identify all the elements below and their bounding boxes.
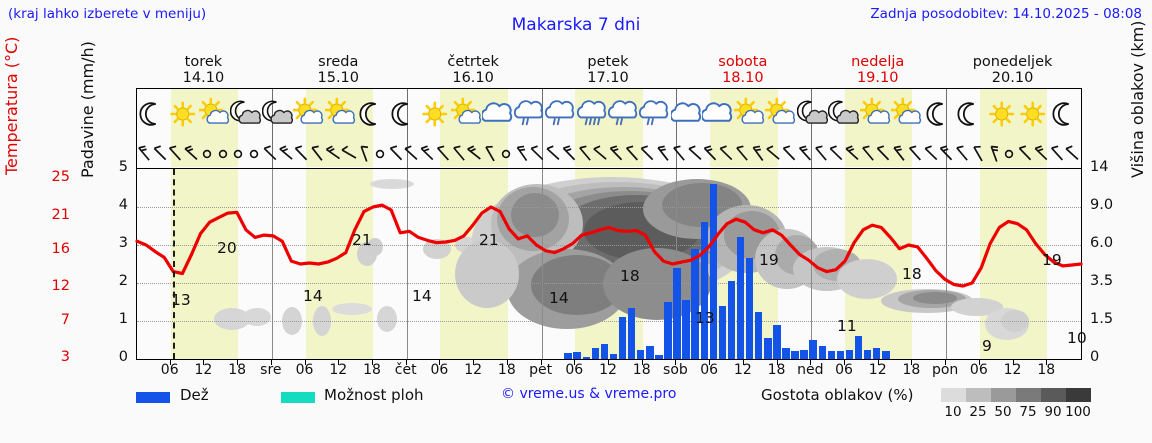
wind-barb-icon xyxy=(655,140,671,170)
x-tick-mark xyxy=(237,360,238,365)
sun-cloud-icon xyxy=(765,90,796,138)
precipitation-tick: 0 xyxy=(104,349,128,365)
precipitation-tick: 4 xyxy=(104,197,128,213)
wind-barb-icon xyxy=(388,140,404,170)
cloud-density-tick: 100 xyxy=(1065,404,1091,420)
sun-icon xyxy=(986,90,1017,138)
rain-legend-label: Dež xyxy=(180,386,209,404)
cloud-density-step xyxy=(1041,388,1066,402)
temperature-label: 19 xyxy=(1042,251,1062,269)
temperature-label: 21 xyxy=(479,231,499,249)
moon-icon xyxy=(356,90,387,138)
sun-cloud-icon xyxy=(451,90,482,138)
temperature-label: 14 xyxy=(412,287,432,305)
cloud-icon xyxy=(482,90,513,138)
wind-barb-icon xyxy=(671,140,687,170)
moon-icon xyxy=(136,90,167,138)
cloud-rain-icon xyxy=(545,90,576,138)
wind-barb-icon xyxy=(592,140,608,170)
cloud-height-tick: 14 xyxy=(1090,159,1124,175)
wind-barb-icon xyxy=(451,140,467,170)
wind-barb-icon xyxy=(341,140,357,170)
wind-barb-icon xyxy=(1017,140,1033,170)
x-tick-mark xyxy=(945,360,946,365)
rain-swatch xyxy=(136,392,170,403)
sun-icon xyxy=(419,90,450,138)
wind-barb-icon xyxy=(514,140,530,170)
x-tick-mark xyxy=(406,360,407,365)
cloud-height-tick: 9.0 xyxy=(1090,197,1124,213)
x-tick-mark xyxy=(743,360,744,365)
wind-barb-icon xyxy=(938,140,954,170)
wind-barb-icon xyxy=(891,140,907,170)
moon-cloud-icon xyxy=(828,90,859,138)
day-date: 19.10 xyxy=(857,70,899,86)
wind-barb-icon xyxy=(482,140,498,170)
wind-barb-icon xyxy=(624,140,640,170)
moon-cloud-icon xyxy=(797,90,828,138)
moon-cloud-icon xyxy=(262,90,293,138)
precipitation-tick: 2 xyxy=(104,273,128,289)
x-tick-mark xyxy=(810,360,811,365)
cloud-height-tick: 6.0 xyxy=(1090,235,1124,251)
showers-swatch xyxy=(281,392,315,403)
wind-barb-icon xyxy=(702,140,718,170)
sun-cloud-icon xyxy=(325,90,356,138)
wind-barb-icon xyxy=(466,140,482,170)
cloud-rain-icon xyxy=(608,90,639,138)
wind-barb-icon xyxy=(278,140,294,170)
wind-barb-icon xyxy=(403,140,419,170)
day-date: 15.10 xyxy=(318,70,360,86)
cloud-density-tick: 10 xyxy=(940,404,966,420)
wind-barb-icon xyxy=(765,140,781,170)
precipitation-tick: 1 xyxy=(104,311,128,327)
x-tick-mark xyxy=(541,360,542,365)
day-date: 20.10 xyxy=(992,70,1034,86)
wind-barb-icon xyxy=(639,140,655,170)
cloud-rain-icon xyxy=(639,90,670,138)
meteogram-plot: 13201421142114181319111891910 xyxy=(136,168,1082,360)
wind-barb-icon xyxy=(750,140,766,170)
day-header-5: nedelja19.10 xyxy=(810,54,945,86)
wind-barb-icon xyxy=(246,140,262,170)
moon-icon xyxy=(388,90,419,138)
temperature-label: 21 xyxy=(352,231,372,249)
wind-barb-icon xyxy=(435,140,451,170)
wind-barb-icon xyxy=(813,140,829,170)
wind-barb-icon xyxy=(734,140,750,170)
wind-barb-icon xyxy=(356,140,372,170)
temperature-line xyxy=(137,205,1081,286)
cloud-height-tick: 0 xyxy=(1090,349,1124,365)
current-time-marker xyxy=(173,169,175,359)
x-tick-mark xyxy=(642,360,643,365)
temperature-tick: 7 xyxy=(42,312,70,328)
day-name: ponedeljek xyxy=(973,54,1053,70)
x-tick-mark xyxy=(271,360,272,365)
sun-icon xyxy=(167,90,198,138)
wind-barb-icon xyxy=(183,140,199,170)
wind-barb-icon xyxy=(860,140,876,170)
wind-barb-icon xyxy=(293,140,309,170)
temperature-label: 18 xyxy=(620,267,640,285)
temperature-label: 9 xyxy=(982,337,992,355)
day-header-0: torek14.10 xyxy=(136,54,271,86)
wind-barb-icon xyxy=(1033,140,1049,170)
cloud-height-tick: 3.5 xyxy=(1090,273,1124,289)
cloud-icon xyxy=(671,90,702,138)
day-name: sreda xyxy=(318,54,358,70)
wind-barb-icon xyxy=(687,140,703,170)
legend: Dež Možnost ploh © vreme.us & vreme.pro … xyxy=(136,386,1152,426)
wind-barb-icon xyxy=(199,140,215,170)
cloud-density-tick: 75 xyxy=(1015,404,1041,420)
x-tick-mark xyxy=(979,360,980,365)
wind-barb-icon xyxy=(215,140,231,170)
wind-barb-icon xyxy=(561,140,577,170)
moon-cloud-icon xyxy=(230,90,261,138)
temperature-label: 18 xyxy=(902,265,922,283)
temperature-label: 11 xyxy=(837,317,857,335)
wind-barb-icon xyxy=(325,140,341,170)
day-name: nedelja xyxy=(851,54,904,70)
temperature-tick: 3 xyxy=(42,349,70,365)
wind-barb-icon xyxy=(262,140,278,170)
x-tick-mark xyxy=(844,360,845,365)
day-date: 17.10 xyxy=(587,70,629,86)
wind-barb-icon xyxy=(529,140,545,170)
day-header-4: sobota18.10 xyxy=(675,54,810,86)
temperature-tick: 25 xyxy=(42,169,70,185)
x-tick-mark xyxy=(507,360,508,365)
day-date: 14.10 xyxy=(183,70,225,86)
copyright-link[interactable]: © vreme.us & vreme.pro xyxy=(501,386,676,402)
temperature-label: 19 xyxy=(759,251,779,269)
wind-barb-icon xyxy=(970,140,986,170)
temperature-axis-title: Temperatura (°C) xyxy=(2,149,21,175)
wind-barb-icon xyxy=(1064,140,1080,170)
precipitation-tick: 3 xyxy=(104,235,128,251)
sun-cloud-icon xyxy=(860,90,891,138)
day-name: petek xyxy=(587,54,628,70)
day-name: sobota xyxy=(718,54,767,70)
cloud-density-step xyxy=(1016,388,1041,402)
cloud-density-step xyxy=(966,388,991,402)
temperature-label: 14 xyxy=(549,289,569,307)
temperature-label: 13 xyxy=(695,309,715,327)
x-tick-mark xyxy=(1013,360,1014,365)
moon-icon xyxy=(954,90,985,138)
wind-barb-icon xyxy=(372,140,388,170)
day-name: torek xyxy=(185,54,223,70)
wind-barb-icon xyxy=(309,140,325,170)
x-tick-mark xyxy=(1046,360,1047,365)
x-tick-mark xyxy=(203,360,204,365)
x-tick-mark xyxy=(911,360,912,365)
x-tick-mark xyxy=(338,360,339,365)
sun-cloud-icon xyxy=(891,90,922,138)
cloud-icon xyxy=(702,90,733,138)
temperature-curve xyxy=(137,169,1081,359)
wind-barb-icon xyxy=(577,140,593,170)
wind-barb-icon xyxy=(498,140,514,170)
day-date: 18.10 xyxy=(722,70,764,86)
wind-barb-icon xyxy=(419,140,435,170)
wind-barb-icon xyxy=(1001,140,1017,170)
wind-barb-icon xyxy=(954,140,970,170)
wind-barb-icon xyxy=(781,140,797,170)
day-date: 16.10 xyxy=(452,70,494,86)
wind-barb-icon xyxy=(718,140,734,170)
cloud-density-step xyxy=(991,388,1016,402)
moon-icon xyxy=(923,90,954,138)
temperature-label: 10 xyxy=(1067,329,1087,347)
day-header-6: ponedeljek20.10 xyxy=(945,54,1080,86)
sun-cloud-icon xyxy=(293,90,324,138)
moon-icon xyxy=(1049,90,1080,138)
precipitation-tick: 5 xyxy=(104,159,128,175)
cloud-density-tick: 90 xyxy=(1040,404,1066,420)
temperature-label: 14 xyxy=(303,287,323,305)
wind-barb-icon xyxy=(1049,140,1065,170)
wind-barb-icon xyxy=(907,140,923,170)
last-update-label: Zadnja posodobitev: 14.10.2025 - 08:08 xyxy=(870,6,1142,22)
wind-barb-icon xyxy=(136,140,152,170)
day-name: četrtek xyxy=(447,54,499,70)
cloud-height-axis-title: Višina oblakov (km) xyxy=(1128,152,1147,178)
x-tick-mark xyxy=(305,360,306,365)
temperature-tick: 16 xyxy=(42,241,70,257)
wind-barb-icon xyxy=(167,140,183,170)
cloud-density-ramp xyxy=(941,388,1091,402)
day-header-1: sreda15.10 xyxy=(271,54,406,86)
temperature-label: 20 xyxy=(217,239,237,257)
cloud-density-legend-label: Gostota oblakov (%) xyxy=(761,386,914,404)
day-header-2: četrtek16.10 xyxy=(406,54,541,86)
wind-barb-icon xyxy=(152,140,168,170)
x-tick-mark xyxy=(473,360,474,365)
cloud-density-tick: 50 xyxy=(990,404,1016,420)
x-tick-mark xyxy=(439,360,440,365)
cloud-rain-heavy-icon xyxy=(577,90,608,138)
wind-barb-icon xyxy=(608,140,624,170)
precipitation-axis-title: Padavine (mm/h) xyxy=(78,152,97,178)
cloud-density-step xyxy=(941,388,966,402)
cloud-density-step xyxy=(1066,388,1091,402)
day-header-3: petek17.10 xyxy=(541,54,676,86)
sun-icon xyxy=(1017,90,1048,138)
wind-barb-icon xyxy=(986,140,1002,170)
showers-legend-label: Možnost ploh xyxy=(324,386,424,404)
x-tick-mark xyxy=(574,360,575,365)
wind-barb-icon xyxy=(923,140,939,170)
x-tick-mark xyxy=(675,360,676,365)
wind-barb-icon xyxy=(844,140,860,170)
cloud-density-tick: 25 xyxy=(965,404,991,420)
wind-barb-icon xyxy=(545,140,561,170)
sun-cloud-icon xyxy=(734,90,765,138)
x-tick-mark xyxy=(878,360,879,365)
wind-barb-icon xyxy=(875,140,891,170)
sun-cloud-icon xyxy=(199,90,230,138)
x-tick-mark xyxy=(777,360,778,365)
x-tick-mark xyxy=(170,360,171,365)
temperature-tick: 12 xyxy=(42,278,70,294)
temperature-tick: 21 xyxy=(42,207,70,223)
wind-barb-icon xyxy=(828,140,844,170)
wind-barb-icon xyxy=(797,140,813,170)
cloud-height-tick: 1.5 xyxy=(1090,311,1124,327)
x-tick-mark xyxy=(608,360,609,365)
wind-barb-icon xyxy=(230,140,246,170)
cloud-rain-icon xyxy=(514,90,545,138)
x-tick-mark xyxy=(372,360,373,365)
x-tick-mark xyxy=(709,360,710,365)
